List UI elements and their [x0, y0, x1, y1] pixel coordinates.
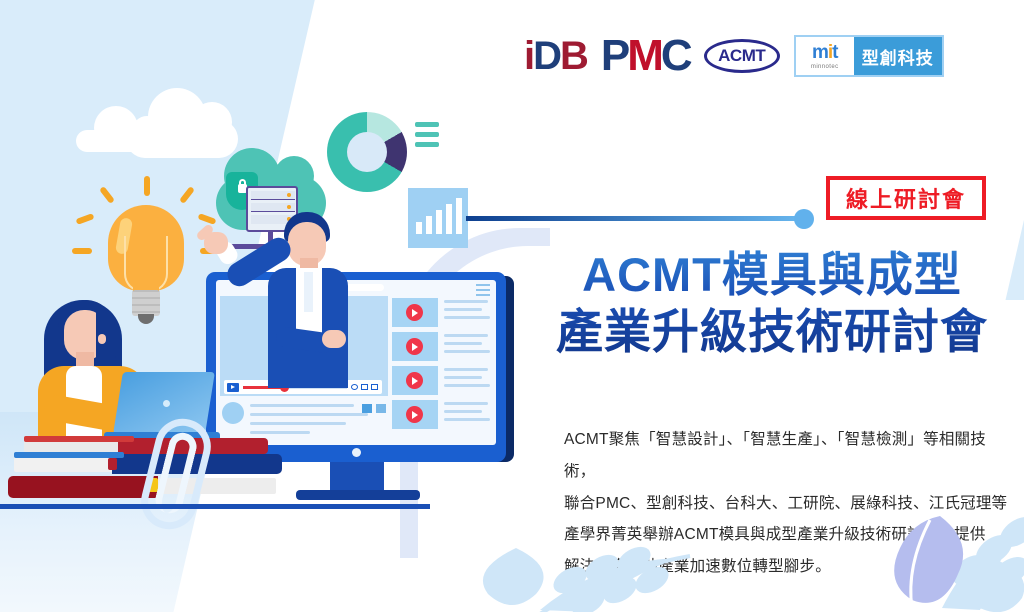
idb-logo: iDB — [524, 36, 587, 76]
thumbs-up-icon[interactable] — [362, 404, 372, 413]
divider-line — [466, 216, 802, 221]
leaf-blob-corner — [964, 556, 1024, 612]
poster-canvas: iDB PMC ACMT mit minnotec 型創科技 線上研討會 ACM… — [0, 0, 1024, 612]
avatar — [222, 402, 244, 424]
bar-chart-icon — [408, 188, 468, 248]
play-button-icon[interactable] — [406, 372, 423, 389]
minnotec-mark: mit — [812, 43, 838, 62]
page-title-line-1: ACMT模具與成型 — [522, 246, 1022, 303]
status-badge: 線上研討會 — [826, 176, 986, 220]
logo-bar: iDB PMC ACMT mit minnotec 型創科技 — [524, 28, 944, 84]
leaf-decoration-left — [530, 540, 790, 612]
cloud-icon — [126, 120, 238, 158]
thumbs-down-icon[interactable] — [376, 404, 386, 413]
minnotec-logo: mit minnotec 型創科技 — [794, 35, 944, 77]
floor-line — [0, 504, 430, 509]
monitor-power-dot — [352, 448, 361, 457]
description-line: ACMT聚焦「智慧設計」、「智慧生產」、「智慧檢測」等相關技術， — [564, 424, 1016, 488]
minnotec-subtext: minnotec — [811, 64, 839, 70]
divider-dot — [794, 209, 814, 229]
donut-chart-hole — [347, 132, 387, 172]
fullscreen-icon[interactable] — [371, 384, 378, 390]
hamburger-menu-icon — [415, 122, 439, 152]
play-button-icon[interactable] — [227, 383, 239, 392]
monitor-screen — [216, 280, 496, 445]
play-button-icon[interactable] — [406, 406, 423, 423]
acmt-logo-text: ACMT — [718, 46, 765, 66]
status-badge-label: 線上研討會 — [846, 182, 966, 214]
page-title-line-2: 產業升級技術研討會 — [522, 303, 1022, 360]
page-title: ACMT模具與成型 產業升級技術研討會 — [522, 246, 1022, 361]
hamburger-menu-icon — [476, 284, 490, 299]
minnotec-chinese-name: 型創科技 — [854, 37, 942, 75]
play-button-icon[interactable] — [406, 338, 423, 355]
pmc-logo: PMC — [601, 34, 690, 78]
theater-mode-icon[interactable] — [361, 384, 368, 390]
acmt-logo: ACMT — [704, 39, 780, 73]
settings-gear-icon[interactable] — [351, 384, 358, 390]
leaf-blob-left — [476, 548, 566, 612]
monitor-foot — [296, 490, 420, 500]
play-button-icon[interactable] — [406, 304, 423, 321]
